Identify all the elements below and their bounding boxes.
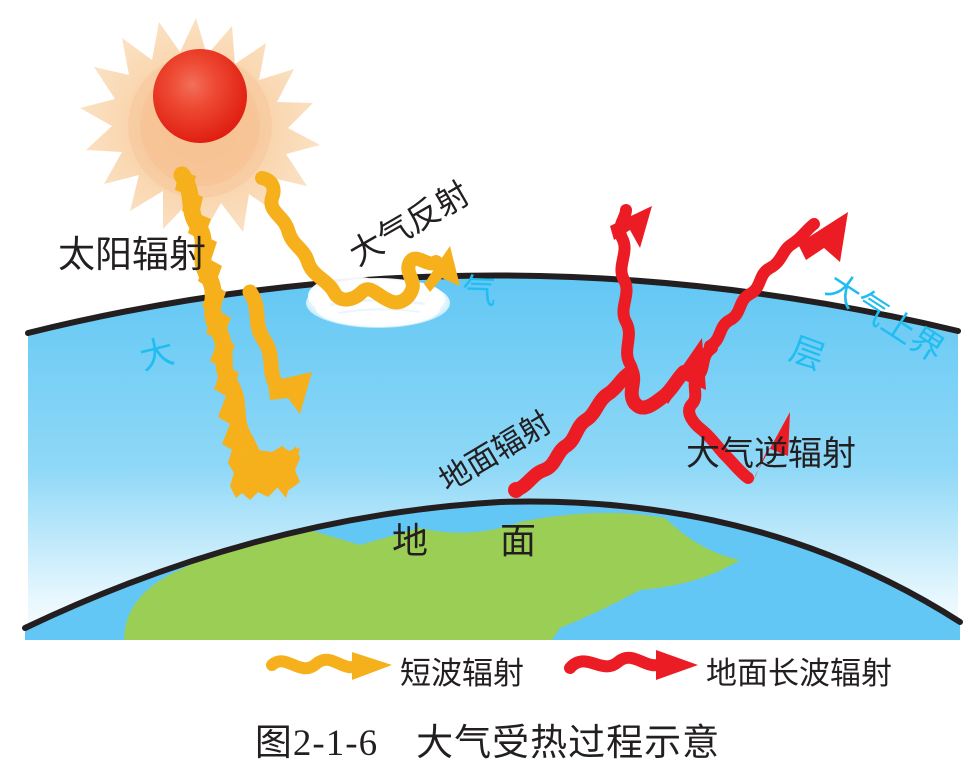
label-ground-char-mian: 面 — [500, 523, 536, 559]
label-solar-radiation: 太阳辐射 — [58, 236, 206, 273]
legend-shortwave-line — [272, 660, 360, 669]
legend-longwave-line — [570, 658, 664, 668]
figure-canvas: 太阳辐射 大气反射 地面辐射 大气逆辐射 大气上界 大 气 层 地 面 短波辐射… — [0, 0, 975, 778]
label-ground-char-di: 地 — [392, 523, 428, 559]
label-atmospheric-back-radiation: 大气逆辐射 — [686, 437, 856, 471]
legend-label-shortwave: 短波辐射 — [400, 648, 524, 693]
figure-caption: 图2-1-6 大气受热过程示意 — [0, 712, 975, 766]
legend-longwave-arrowhead — [656, 650, 698, 680]
legend-label-longwave: 地面长波辐射 — [706, 648, 892, 693]
label-atmosphere-char-qi: 气 — [461, 274, 496, 309]
legend-shortwave-arrowhead — [352, 652, 392, 680]
